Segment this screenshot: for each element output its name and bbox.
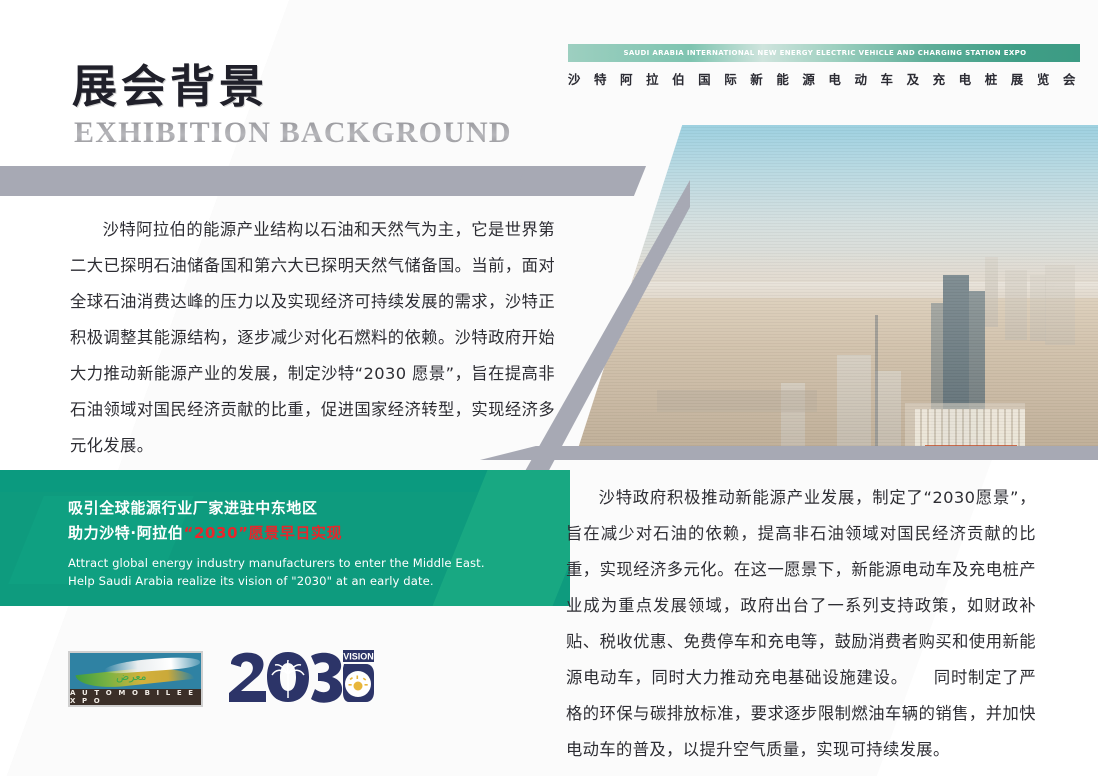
page-title: 展会背景 EXHIBITION BACKGROUND [72,62,512,150]
slogan-english-line-2: Help Saudi Arabia realize its vision of … [68,573,498,591]
slogan-line-2: 助力沙特·阿拉伯“2030”愿景早日实现 [68,521,498,546]
poster-page: 展会背景 EXHIBITION BACKGROUND SAUDI ARABIA … [0,0,1098,776]
slogan-line-2-highlight: “2030”愿景早日实现 [184,524,343,542]
slogan-line-2-prefix: 助力沙特·阿拉伯 [68,524,184,542]
photo-bottom-bar [480,446,1098,460]
exhibition-background-paragraph-right: 沙特政府积极推动新能源产业发展，制定了“2030愿景”，旨在减少对石油的依赖，提… [566,480,1036,768]
slogan-text-group: 吸引全球能源行业厂家进驻中东地区 助力沙特·阿拉伯“2030”愿景早日实现 At… [68,496,498,590]
page-title-en: EXHIBITION BACKGROUND [74,116,512,150]
exhibition-background-paragraph-left: 沙特阿拉伯的能源产业结构以石油和天然气为主，它是世界第二大已探明石油储备国和第六… [70,212,555,464]
title-divider-band-slant [514,166,646,196]
vision-2030-label-text: VISION [343,652,374,662]
slogan-panel: 吸引全球能源行业厂家进驻中东地区 助力沙特·阿拉伯“2030”愿景早日实现 At… [0,470,570,606]
photo-texture [575,125,1098,458]
automobile-expo-logo: معرض A U T O M O B I L E E X P O [68,651,203,707]
title-divider-band [0,166,600,196]
expo-brand-name-cn: 沙 特 阿 拉 伯 国 际 新 能 源 电 动 车 及 充 电 桩 展 览 会 [568,69,1080,88]
vision-2030-logo-svg: VISION [225,648,375,710]
expo-brand-bar: SAUDI ARABIA INTERNATIONAL NEW ENERGY EL… [568,44,1080,62]
page-title-cn: 展会背景 [72,62,512,112]
slogan-english-line-1: Attract global energy industry manufactu… [68,555,498,573]
logo-row: معرض A U T O M O B I L E E X P O [68,648,375,710]
automobile-expo-arabic-text: معرض [116,670,147,683]
vision-2030-logo: VISION [225,648,375,710]
automobile-expo-caption: A U T O M O B I L E E X P O [70,689,201,705]
automobile-expo-logo-art: معرض [70,653,201,689]
slogan-line-1: 吸引全球能源行业厂家进驻中东地区 [68,496,498,521]
slogan-english: Attract global energy industry manufactu… [68,555,498,590]
riyadh-skyline-photo [575,125,1098,458]
expo-brand-lockup: SAUDI ARABIA INTERNATIONAL NEW ENERGY EL… [568,44,1080,88]
